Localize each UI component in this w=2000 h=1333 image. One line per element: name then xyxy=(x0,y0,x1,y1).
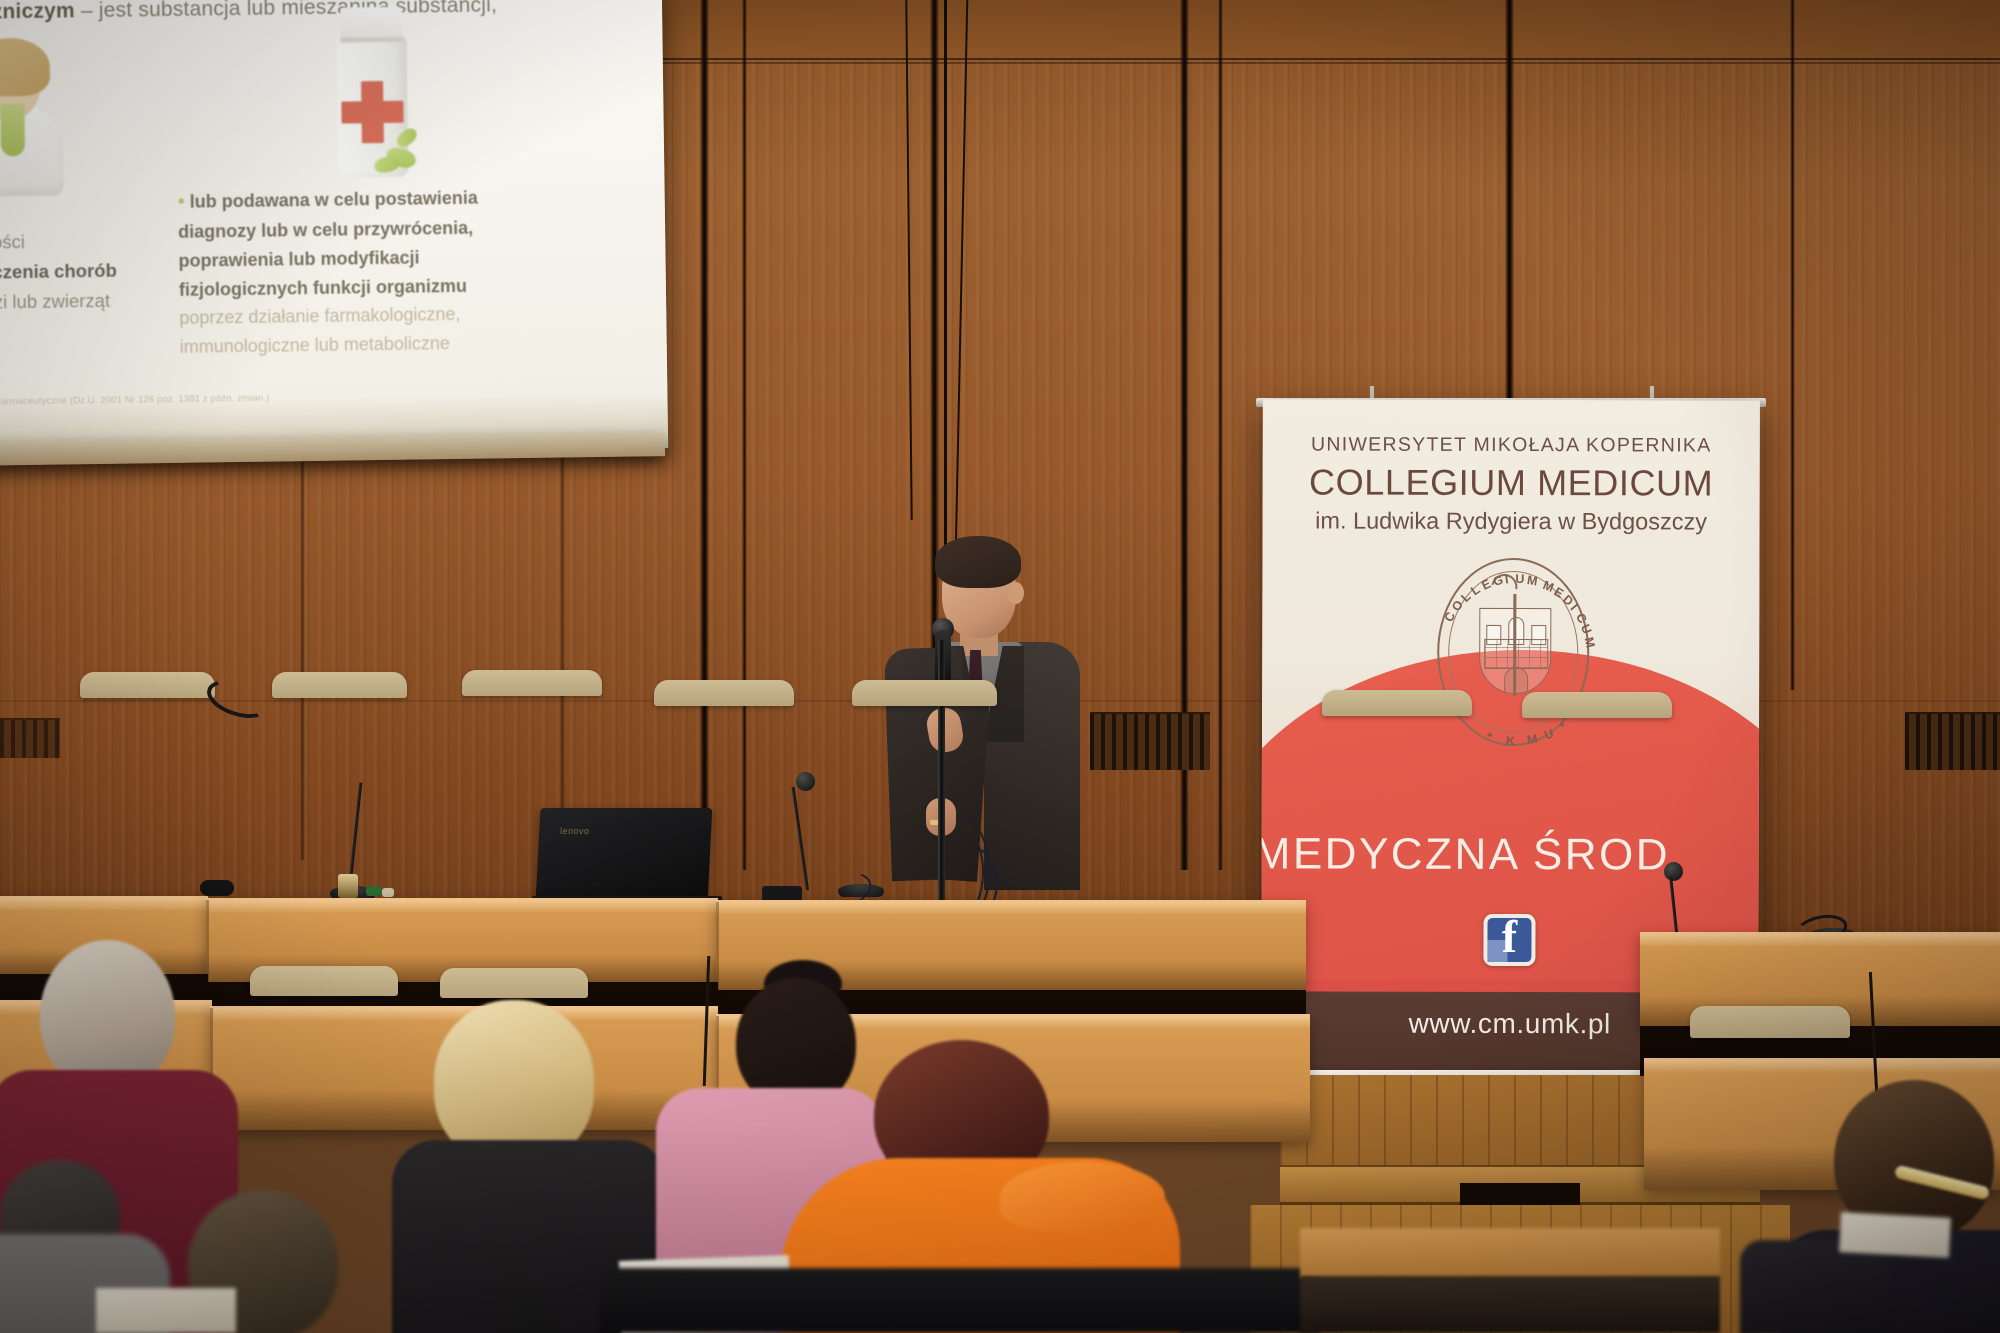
chair-back xyxy=(80,672,215,698)
chair-back xyxy=(1522,692,1672,718)
desk-object-small xyxy=(382,888,394,897)
laptop-brand-logo: lenovo xyxy=(560,826,590,836)
wall-groove xyxy=(1790,0,1795,690)
desk-object-small xyxy=(366,886,382,896)
slide-right-line: immunologiczne lub metaboliczne xyxy=(180,328,520,362)
presentation-slide: m leczniczym – jest substancja lub miesz… xyxy=(0,0,668,458)
chair-back xyxy=(852,680,997,706)
desk-microphone-head xyxy=(1664,862,1683,881)
chair-back xyxy=(654,680,794,706)
slide-footnote: 2001 r. – Prawo farmaceutyczne (Dz.U. 20… xyxy=(0,388,567,408)
banner-patron-line: im. Ludwika Rydygiera w Bydgoszczy xyxy=(1263,507,1760,535)
projection-screen: m leczniczym – jest substancja lub miesz… xyxy=(0,0,668,458)
medicine-bottle-icon xyxy=(332,7,412,178)
slide-right-line: • lub podawana w celu postawienia xyxy=(178,181,518,218)
speaker-ear xyxy=(1008,582,1024,604)
chair-dark-bottom-right xyxy=(1740,1240,1890,1333)
radiator-grille xyxy=(1905,712,2000,770)
chair-back xyxy=(462,670,602,696)
slide-left-line: ch u ludzi lub zwierząt xyxy=(0,285,179,318)
wall-groove xyxy=(1218,0,1223,870)
banner-university-name: UNIWERSYTET MIKOŁAJA KOPERNIKA xyxy=(1263,433,1760,457)
chair-back xyxy=(1690,1006,1850,1038)
front-bench-dark xyxy=(600,1268,1320,1333)
slide-right-line: diagnozy lub w celu przywrócenia, xyxy=(178,213,518,247)
slide-left-column: ana jako właściwości a lub leczenia chor… xyxy=(0,195,179,318)
banner-collegium-medicum: COLLEGIUM MEDICUM xyxy=(1263,461,1760,504)
banner-tagline: MEDYCZNA ŚROD xyxy=(1261,829,1760,880)
desk-microphone-head xyxy=(796,772,815,791)
hoodie-hood xyxy=(1000,1162,1165,1232)
facebook-icon[interactable] xyxy=(1483,914,1535,966)
front-bench-wood xyxy=(1300,1228,1720,1278)
paper-sheet xyxy=(96,1288,236,1333)
slide-left-line: a lub leczenia chorób xyxy=(0,255,179,288)
radiator-grille xyxy=(1090,712,1210,770)
slide-title: m leczniczym – jest substancja lub miesz… xyxy=(0,0,637,25)
hanging-cable xyxy=(944,0,947,560)
doctors-clipart-icon xyxy=(0,29,74,196)
slide-right-column: • lub podawana w celu postawienia diagno… xyxy=(178,181,520,362)
chair-back xyxy=(1322,690,1472,716)
desk-object-mic xyxy=(200,880,234,896)
chair-back xyxy=(250,966,398,996)
wall-groove xyxy=(700,0,709,870)
front-bench-shadow xyxy=(1300,1276,1720,1333)
chair-back xyxy=(272,672,407,698)
slide-left-line: właściwości xyxy=(0,225,178,258)
wall-groove xyxy=(742,0,747,870)
slide-left-line: ana jako xyxy=(0,195,178,228)
desk-object-tape xyxy=(338,874,358,898)
chair-back xyxy=(440,968,588,998)
lecture-hall-scene: m leczniczym – jest substancja lub miesz… xyxy=(0,0,2000,1333)
speaker-hair xyxy=(935,536,1021,588)
radiator-grille xyxy=(0,718,60,758)
laptop xyxy=(536,808,713,900)
paper-sheet xyxy=(1839,1212,1951,1258)
bullet-icon: • xyxy=(178,191,185,213)
seal-ring-text: C O L L E G I U M M E D I C U M * U M K xyxy=(1439,560,1591,748)
